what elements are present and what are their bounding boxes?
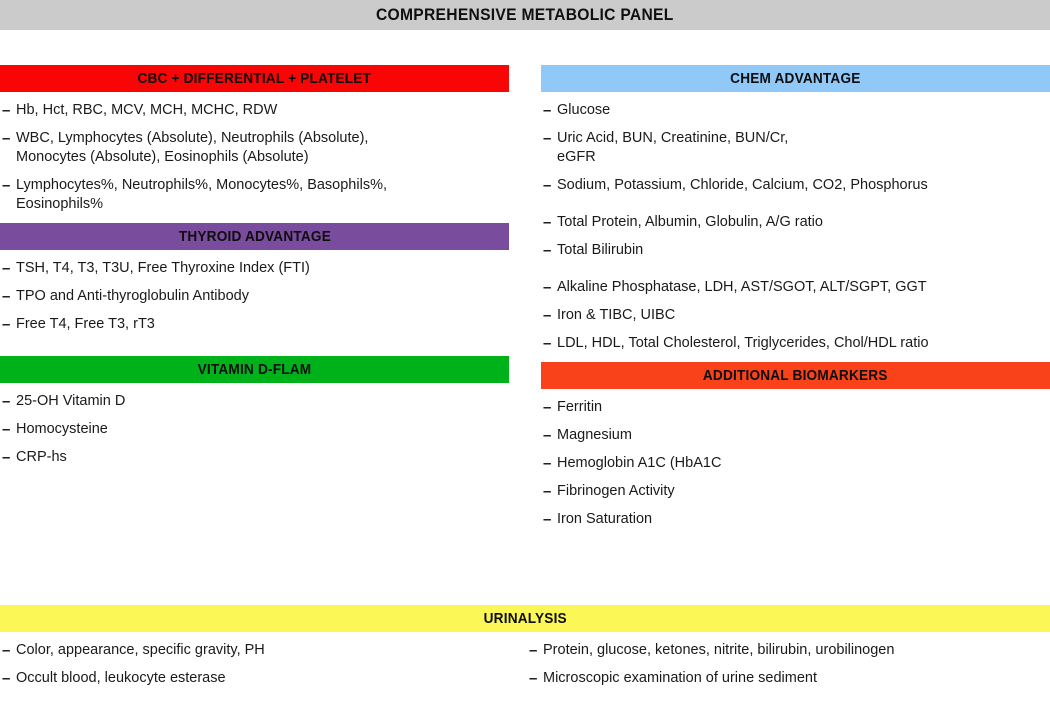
list-item: – Magnesium — [541, 426, 1050, 445]
list-item: – CRP-hs — [0, 448, 509, 467]
section-cbc: CBC + DIFFERENTIAL + PLATELET – Hb, Hct,… — [0, 65, 509, 214]
list-item-label: Color, appearance, specific gravity, PH — [16, 641, 505, 660]
list-item-label: LDL, HDL, Total Cholesterol, Triglycerid… — [557, 334, 1050, 353]
section-biomarkers: ADDITIONAL BIOMARKERS – Ferritin – Magne… — [541, 362, 1050, 529]
list-item: – LDL, HDL, Total Cholesterol, Triglycer… — [541, 334, 1050, 353]
list-item: – Alkaline Phosphatase, LDH, AST/SGOT, A… — [541, 278, 1050, 297]
dash-bullet-icon: – — [2, 420, 16, 439]
dash-bullet-icon: – — [543, 398, 557, 417]
list-item: – 25-OH Vitamin D — [0, 392, 509, 411]
list-item-label: WBC, Lymphocytes (Absolute), Neutrophils… — [16, 130, 368, 146]
right-column: CHEM ADVANTAGE – Glucose – Uric Acid, BU… — [541, 30, 1050, 538]
urinalysis-column-left: – Color, appearance, specific gravity, P… — [0, 641, 505, 697]
list-item-label: CRP-hs — [16, 448, 509, 467]
list-item: – Sodium, Potassium, Chloride, Calcium, … — [541, 176, 1050, 195]
list-item-label: Alkaline Phosphatase, LDH, AST/SGOT, ALT… — [557, 278, 1050, 297]
section-header-cbc: CBC + DIFFERENTIAL + PLATELET — [0, 65, 509, 92]
list-item-label: Hb, Hct, RBC, MCV, MCH, MCHC, RDW — [16, 101, 509, 120]
section-title-vitamin-d: VITAMIN D-FLAM — [198, 362, 312, 378]
dash-bullet-icon: – — [543, 176, 557, 195]
section-items-cbc: – Hb, Hct, RBC, MCV, MCH, MCHC, RDW – WB… — [0, 92, 509, 214]
dash-bullet-icon: – — [529, 641, 543, 660]
list-item-label: Homocysteine — [16, 420, 509, 439]
list-item-label: Uric Acid, BUN, Creatinine, BUN/Cr, — [557, 130, 788, 146]
list-item-label: TPO and Anti-thyroglobulin Antibody — [16, 287, 509, 306]
list-item: – Microscopic examination of urine sedim… — [527, 669, 1032, 688]
section-header-chem: CHEM ADVANTAGE — [541, 65, 1050, 92]
list-item: – Free T4, Free T3, rT3 — [0, 315, 509, 334]
list-item: – Iron & TIBC, UIBC — [541, 306, 1050, 325]
dash-bullet-icon: – — [2, 641, 16, 660]
list-item-label: Iron & TIBC, UIBC — [557, 306, 1050, 325]
list-item-label: Iron Saturation — [557, 510, 1050, 529]
list-item: – Protein, glucose, ketones, nitrite, bi… — [527, 641, 1032, 660]
list-item-label: Hemoglobin A1C (HbA1C — [557, 454, 1050, 473]
list-item-label: Total Bilirubin — [557, 241, 1050, 260]
section-title-chem: CHEM ADVANTAGE — [730, 71, 860, 87]
list-item-label: Fibrinogen Activity — [557, 482, 1050, 501]
list-item: – Occult blood, leukocyte esterase — [0, 669, 505, 688]
dash-bullet-icon: – — [2, 176, 16, 195]
list-item: – Glucose — [541, 101, 1050, 120]
dash-bullet-icon: – — [2, 392, 16, 411]
list-item-label: Sodium, Potassium, Chloride, Calcium, CO… — [557, 176, 1050, 195]
dash-bullet-icon: – — [2, 669, 16, 688]
urinalysis-columns: – Color, appearance, specific gravity, P… — [0, 632, 1050, 641]
list-item: – Lymphocytes%, Neutrophils%, Monocytes%… — [0, 176, 509, 214]
list-item-label: Protein, glucose, ketones, nitrite, bili… — [543, 641, 1032, 660]
list-item-label: TSH, T4, T3, T3U, Free Thyroxine Index (… — [16, 259, 509, 278]
dash-bullet-icon: – — [2, 287, 16, 306]
section-title-cbc: CBC + DIFFERENTIAL + PLATELET — [138, 71, 372, 87]
dash-bullet-icon: – — [543, 482, 557, 501]
document-title-banner: COMPREHENSIVE METABOLIC PANEL — [0, 0, 1050, 30]
section-header-biomarkers: ADDITIONAL BIOMARKERS — [541, 362, 1050, 389]
section-header-urinalysis: URINALYSIS — [0, 605, 1050, 632]
dash-bullet-icon: – — [543, 241, 557, 260]
list-item: – Iron Saturation — [541, 510, 1050, 529]
dash-bullet-icon: – — [543, 278, 557, 297]
list-item: – TPO and Anti-thyroglobulin Antibody — [0, 287, 509, 306]
list-item: – Hb, Hct, RBC, MCV, MCH, MCHC, RDW — [0, 101, 509, 120]
section-title-biomarkers: ADDITIONAL BIOMARKERS — [703, 368, 888, 384]
page-title: COMPREHENSIVE METABOLIC PANEL — [376, 5, 674, 25]
section-title-urinalysis: URINALYSIS — [483, 611, 566, 627]
dash-bullet-icon: – — [2, 129, 16, 148]
dash-bullet-icon: – — [543, 454, 557, 473]
section-title-thyroid: THYROID ADVANTAGE — [178, 229, 330, 245]
list-item: – Hemoglobin A1C (HbA1C — [541, 454, 1050, 473]
list-item: – Total Protein, Albumin, Globulin, A/G … — [541, 213, 1050, 232]
list-item: – Color, appearance, specific gravity, P… — [0, 641, 505, 660]
dash-bullet-icon: – — [543, 510, 557, 529]
list-item-label: Microscopic examination of urine sedimen… — [543, 669, 1032, 688]
list-item: – TSH, T4, T3, T3U, Free Thyroxine Index… — [0, 259, 509, 278]
section-items-biomarkers: – Ferritin – Magnesium – Hemoglobin A1C … — [541, 389, 1050, 529]
section-header-vitamin-d: VITAMIN D-FLAM — [0, 356, 509, 383]
dash-bullet-icon: – — [2, 101, 16, 120]
dash-bullet-icon: – — [543, 426, 557, 445]
dash-bullet-icon: – — [2, 259, 16, 278]
list-item: – Total Bilirubin — [541, 241, 1050, 260]
section-vitamin-d: VITAMIN D-FLAM – 25-OH Vitamin D – Homoc… — [0, 356, 509, 467]
left-column: CBC + DIFFERENTIAL + PLATELET – Hb, Hct,… — [0, 30, 509, 476]
dash-bullet-icon: – — [543, 129, 557, 148]
section-items-thyroid: – TSH, T4, T3, T3U, Free Thyroxine Index… — [0, 250, 509, 334]
section-header-thyroid: THYROID ADVANTAGE — [0, 223, 509, 250]
list-item-label: Total Protein, Albumin, Globulin, A/G ra… — [557, 213, 1050, 232]
list-item-label: Occult blood, leukocyte esterase — [16, 669, 505, 688]
section-items-chem: – Glucose – Uric Acid, BUN, Creatinine, … — [541, 92, 1050, 353]
list-item: – Ferritin — [541, 398, 1050, 417]
dash-bullet-icon: – — [529, 669, 543, 688]
list-item-label: 25-OH Vitamin D — [16, 392, 509, 411]
list-item-label: Lymphocytes%, Neutrophils%, Monocytes%, … — [16, 177, 387, 193]
list-item-label-cont: Monocytes (Absolute), Eosinophils (Absol… — [16, 148, 509, 167]
list-item: – Fibrinogen Activity — [541, 482, 1050, 501]
section-chem: CHEM ADVANTAGE – Glucose – Uric Acid, BU… — [541, 65, 1050, 353]
list-item-label: Magnesium — [557, 426, 1050, 445]
list-item: – Uric Acid, BUN, Creatinine, BUN/Cr, eG… — [541, 129, 1050, 167]
section-urinalysis: URINALYSIS – Color, appearance, specific… — [0, 605, 1050, 641]
section-thyroid: THYROID ADVANTAGE – TSH, T4, T3, T3U, Fr… — [0, 223, 509, 334]
list-item-label: Free T4, Free T3, rT3 — [16, 315, 509, 334]
list-item: – WBC, Lymphocytes (Absolute), Neutrophi… — [0, 129, 509, 167]
dash-bullet-icon: – — [2, 315, 16, 334]
section-items-vitamin-d: – 25-OH Vitamin D – Homocysteine – CRP-h… — [0, 383, 509, 467]
dash-bullet-icon: – — [543, 306, 557, 325]
dash-bullet-icon: – — [543, 213, 557, 232]
list-item-label: Ferritin — [557, 398, 1050, 417]
list-item: – Homocysteine — [0, 420, 509, 439]
urinalysis-column-right: – Protein, glucose, ketones, nitrite, bi… — [527, 641, 1032, 697]
list-item-label-cont: eGFR — [557, 148, 1050, 167]
dash-bullet-icon: – — [543, 101, 557, 120]
list-item-label: Glucose — [557, 101, 1050, 120]
dash-bullet-icon: – — [2, 448, 16, 467]
list-item-label-cont: Eosinophils% — [16, 195, 509, 214]
dash-bullet-icon: – — [543, 334, 557, 353]
